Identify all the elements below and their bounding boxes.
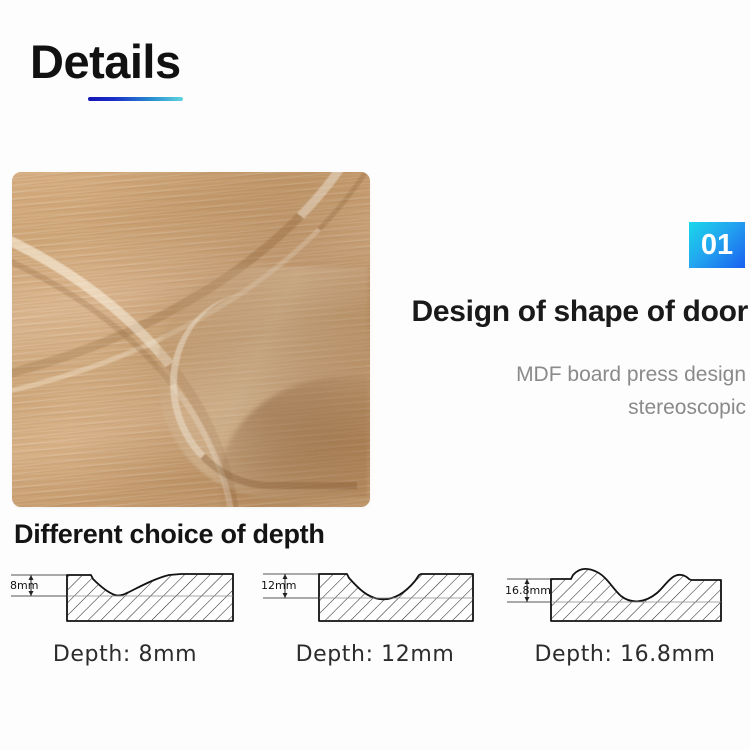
dimension-label-12mm: 12mm — [261, 579, 296, 592]
dimension-label-16-8mm: 16.8mm — [505, 584, 551, 597]
depth-caption-16-8mm: Depth: 16.8mm — [534, 642, 715, 667]
page-title: Details — [30, 34, 181, 90]
depth-caption-12mm: Depth: 12mm — [296, 642, 455, 667]
depth-caption-8mm: Depth: 8mm — [53, 642, 197, 667]
feature-subtitle: MDF board press design stereoscopic — [326, 358, 746, 424]
depth-option-12mm: 12mm Depth: 12mm — [250, 563, 500, 678]
feature-number-badge-label: 01 — [701, 231, 733, 260]
feature-number-badge: 01 — [689, 222, 745, 268]
dimension-label-8mm: 8mm — [10, 579, 38, 592]
depth-option-8mm: 8mm Depth: 8mm — [0, 563, 250, 678]
depth-section-heading: Different choice of depth — [14, 519, 325, 550]
wood-shading-overlay — [12, 172, 370, 507]
depth-option-16-8mm: 16.8mm Depth: 16.8mm — [500, 563, 750, 678]
details-page: Details 01 Design of shape of door MDF b… — [0, 0, 750, 750]
depth-options-row: 8mm Depth: 8mm — [0, 563, 750, 678]
feature-title: Design of shape of door — [328, 293, 748, 331]
feature-subtitle-line-2: stereoscopic — [326, 391, 746, 424]
feature-subtitle-line-1: MDF board press design — [326, 358, 746, 391]
wood-panel-photo — [12, 172, 370, 507]
depth-profile-diagram-12mm: 12mm — [255, 563, 495, 635]
title-underline-accent — [88, 97, 183, 101]
depth-profile-diagram-8mm: 8mm — [5, 563, 245, 635]
depth-profile-diagram-16-8mm: 16.8mm — [505, 563, 745, 635]
